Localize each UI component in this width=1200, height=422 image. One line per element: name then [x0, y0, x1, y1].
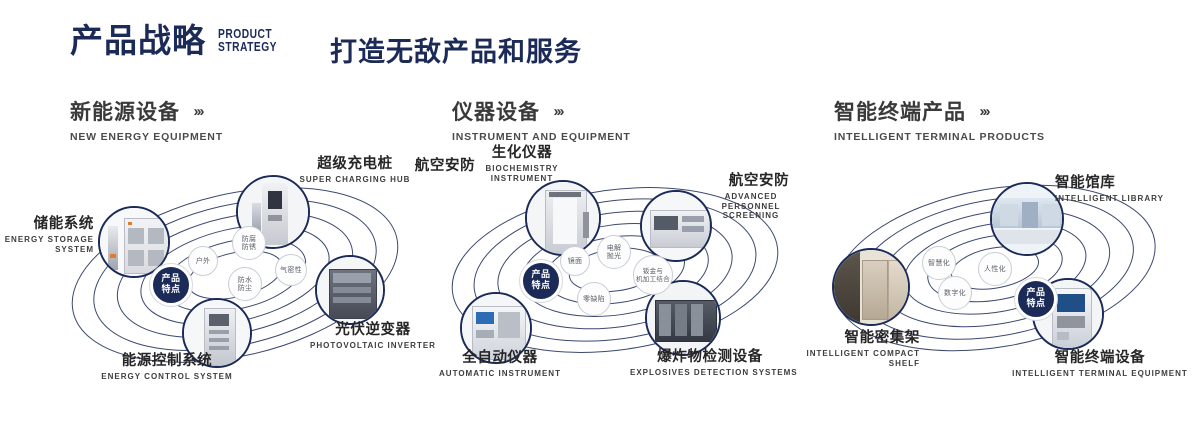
page-title-cn: 产品战略 [70, 24, 206, 57]
bubble-airtight: 气密性 [275, 254, 307, 286]
product-strategy-infographic: 产品战略 PRODUCT STRATEGY 打造无敌产品和服务 新能源设备 ››… [0, 0, 1200, 422]
chevron-right-icon: ››› [979, 103, 988, 120]
bubble-label: 钣金与 机加工结合 [636, 267, 670, 283]
bubble-label: 镜面 [568, 257, 583, 266]
section-title-cn: 新能源设备 [70, 96, 180, 126]
bubble-product-features-instrument: 产品 特点 [520, 260, 562, 302]
label-en: INTELLIGENT TERMINAL EQUIPMENT [1000, 369, 1200, 379]
label-intelligent-library: 智能馆库 INTELLIGENT LIBRARY [1055, 175, 1195, 204]
bubble-label: 智慧化 [928, 259, 950, 268]
section-title-cn: 仪器设备 [452, 96, 540, 126]
bubble-label: 电解 抛光 [607, 244, 622, 261]
node-intelligent-library[interactable] [990, 182, 1064, 256]
label-en: AUTOMATIC INSTRUMENT [435, 369, 565, 379]
chevron-right-icon: ››› [193, 103, 202, 120]
label-cn: 智能终端设备 [1000, 350, 1200, 367]
label-en: PHOTOVOLTAIC INVERTER [308, 341, 438, 351]
label-advanced-personnel-screening: 航空安防 ADVANCED PERSONNEL SCREENING [697, 173, 821, 221]
bubble-product-features-new-energy: 产品 特点 [150, 264, 192, 306]
bubble-label: 人性化 [984, 265, 1006, 274]
intelligent-library-photo [992, 184, 1062, 254]
page-title-en-line2: STRATEGY [218, 41, 277, 54]
page-title-en: PRODUCT STRATEGY [218, 28, 277, 54]
bubble-label: 防水 防尘 [238, 276, 253, 293]
bubble-smart: 智慧化 [922, 246, 956, 280]
label-intelligent-compact-shelf: 智能密集架 INTELLIGENT COMPACT SHELF [750, 330, 920, 368]
label-en: EXPLOSIVES DETECTION SYSTEMS [630, 368, 790, 378]
page-title: 产品战略 PRODUCT STRATEGY [70, 24, 290, 57]
chevron-right-icon: ››› [553, 103, 562, 120]
label-intelligent-terminal-equipment: 智能终端设备 INTELLIGENT TERMINAL EQUIPMENT [1000, 350, 1200, 379]
bubble-product-features-intelligent-terminal: 产品 特点 [1015, 278, 1057, 320]
bubble-outdoor: 户外 [188, 246, 218, 276]
section-title-en: INSTRUMENT AND EQUIPMENT [452, 131, 631, 143]
label-biochemistry-instrument: 生化仪器 BIOCHEMISTRY INSTRUMENT [447, 145, 597, 183]
bubble-label: 零缺陷 [583, 295, 605, 304]
label-en: SUPER CHARGING HUB [290, 175, 420, 185]
label-photovoltaic-inverter: 光伏逆变器 PHOTOVOLTAIC INVERTER [308, 322, 438, 351]
section-title-en: NEW ENERGY EQUIPMENT [70, 131, 223, 143]
bubble-zero-defect: 零缺陷 [577, 282, 611, 316]
node-photovoltaic-inverter[interactable] [315, 255, 385, 325]
label-en: ENERGY STORAGE SYSTEM [0, 235, 94, 254]
bubble-label: 产品 特点 [531, 270, 550, 292]
bubble-waterproof: 防水 防尘 [228, 267, 262, 301]
label-en: INTELLIGENT COMPACT SHELF [800, 349, 920, 368]
photovoltaic-inverter-photo [317, 257, 383, 323]
section-title-new-energy: 新能源设备 ››› NEW ENERGY EQUIPMENT [70, 96, 223, 143]
section-title-en: INTELLIGENT TERMINAL PRODUCTS [834, 131, 1045, 143]
label-cn: 能源控制系统 [82, 353, 252, 370]
bubble-electropolishing: 电解 抛光 [597, 235, 631, 269]
section-title-intelligent-terminal: 智能终端产品 ››› INTELLIGENT TERMINAL PRODUCTS [834, 96, 1045, 143]
bubble-sheetmetal-machining: 钣金与 机加工结合 [633, 255, 673, 295]
biochemistry-instrument-photo [527, 182, 599, 254]
label-automatic-instrument: 全自动仪器 AUTOMATIC INSTRUMENT [435, 350, 565, 379]
label-cn: 储能系统 [0, 216, 94, 233]
intelligent-compact-shelf-photo [834, 250, 908, 324]
label-cn: 全自动仪器 [435, 350, 565, 367]
bubble-mirror: 镜面 [560, 246, 590, 276]
bubble-label: 户外 [196, 257, 211, 266]
label-en: INTELLIGENT LIBRARY [1055, 194, 1195, 204]
bubble-digital: 数字化 [938, 276, 972, 310]
bubble-label: 数字化 [944, 289, 966, 298]
section-title-instrument: 仪器设备 ››› INSTRUMENT AND EQUIPMENT [452, 96, 631, 143]
label-cn: 智能馆库 [1055, 175, 1195, 192]
page-slogan: 打造无敌产品和服务 [330, 30, 582, 69]
label-en: ADVANCED PERSONNEL SCREENING [697, 192, 805, 221]
label-cn: 航空安防 [697, 173, 821, 190]
label-cn: 生化仪器 [447, 145, 597, 162]
section-title-cn: 智能终端产品 [834, 96, 966, 126]
bubble-label: 气密性 [280, 266, 302, 275]
label-cn: 智能密集架 [750, 330, 920, 347]
label-energy-control-system: 能源控制系统 ENERGY CONTROL SYSTEM [82, 353, 252, 382]
cluster-intelligent-terminal: 智能馆库 INTELLIGENT LIBRARY 智能密集架 INTELLIGE… [810, 150, 1200, 390]
bubble-label: 产品 特点 [1026, 288, 1045, 310]
label-cn: 光伏逆变器 [308, 322, 438, 339]
label-en: ENERGY CONTROL SYSTEM [82, 372, 252, 382]
bubble-label: 防腐 防锈 [242, 235, 257, 252]
label-en: BIOCHEMISTRY INSTRUMENT [468, 164, 576, 183]
node-intelligent-compact-shelf[interactable] [832, 248, 910, 326]
label-energy-storage-system: 储能系统 ENERGY STORAGE SYSTEM [0, 216, 94, 254]
bubble-humanized: 人性化 [978, 252, 1012, 286]
bubble-label: 产品 特点 [161, 274, 180, 296]
bubble-anticorrosion: 防腐 防锈 [232, 226, 266, 260]
node-biochemistry-instrument[interactable] [525, 180, 601, 256]
cluster-new-energy: 储能系统 ENERGY STORAGE SYSTEM 超级充电桩 SUPER C… [40, 150, 440, 390]
energy-storage-photo [100, 208, 168, 276]
